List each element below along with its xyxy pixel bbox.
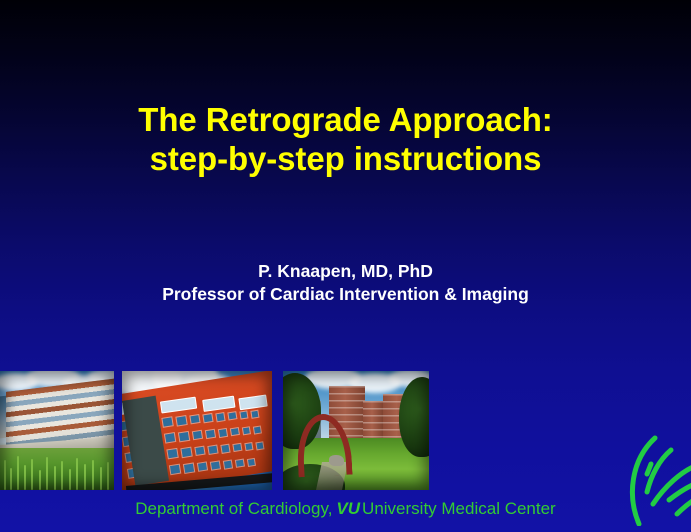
footer-vu-mark: VU <box>332 499 362 518</box>
author-name: P. Knaapen, MD, PhD <box>0 260 691 283</box>
brick-tower-mid <box>363 401 383 443</box>
photo-orange-facade-building <box>122 371 272 490</box>
photo-vumc-research-building <box>0 371 114 490</box>
title-line-2: step-by-step instructions <box>0 140 691 179</box>
footer-institution: University Medical Center <box>362 499 556 518</box>
photo-brick-towers-lawn <box>283 371 429 490</box>
photo-strip <box>0 371 440 491</box>
vumc-logo <box>625 430 691 526</box>
footer-department: Department of Cardiology, <box>135 499 332 518</box>
vumc-logo-icon <box>625 430 691 526</box>
grass-foreground <box>0 448 114 490</box>
author-role: Professor of Cardiac Intervention & Imag… <box>0 283 691 306</box>
title-line-1: The Retrograde Approach: <box>0 101 691 140</box>
slide-title: The Retrograde Approach: step-by-step in… <box>0 101 691 178</box>
footer: Department of Cardiology,VUUniversity Me… <box>0 499 691 519</box>
presentation-slide: The Retrograde Approach: step-by-step in… <box>0 0 691 532</box>
stone-block <box>329 455 344 466</box>
author-block: P. Knaapen, MD, PhD Professor of Cardiac… <box>0 260 691 306</box>
